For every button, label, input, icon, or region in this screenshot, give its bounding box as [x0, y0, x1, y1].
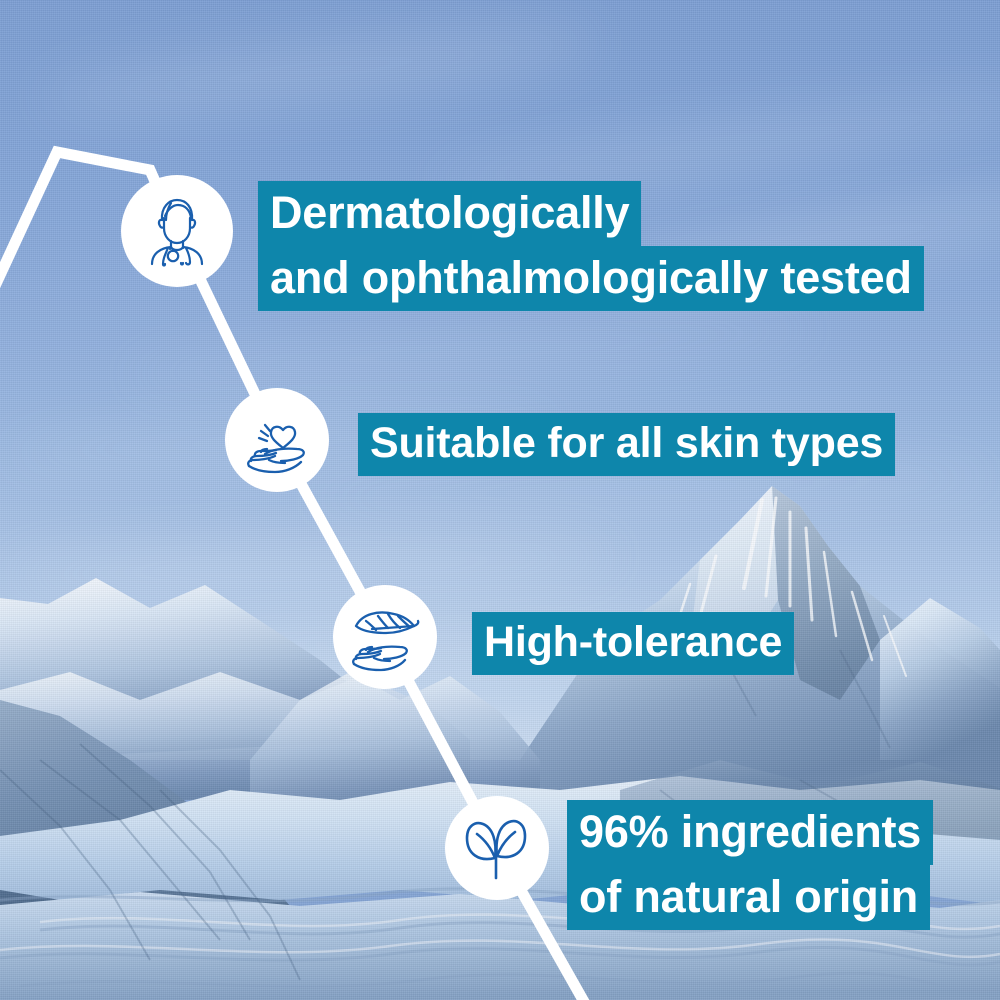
claim-bubble-all-skin-types[interactable] — [225, 388, 329, 492]
claim-text-dermatologically-tested: Dermatologically and ophthalmologically … — [258, 181, 924, 311]
claim-bubble-natural-origin[interactable] — [445, 796, 549, 900]
claim-line: Dermatologically — [258, 181, 641, 246]
claim-line: 96% ingredients — [567, 800, 933, 865]
leaf-plant-icon — [461, 812, 533, 884]
claim-line: and ophthalmologically tested — [258, 246, 924, 311]
claim-line: Suitable for all skin types — [358, 413, 895, 476]
claim-text-natural-origin: 96% ingredients of natural origin — [567, 800, 933, 930]
claim-text-all-skin-types: Suitable for all skin types — [358, 413, 895, 476]
claim-line: High-tolerance — [472, 612, 794, 675]
claim-bubble-high-tolerance[interactable] — [333, 585, 437, 689]
infographic-canvas: Dermatologically and ophthalmologically … — [0, 0, 1000, 1000]
doctor-stethoscope-icon — [140, 194, 214, 268]
hand-heart-icon — [241, 404, 313, 476]
feather-hand-icon — [348, 600, 422, 674]
claim-line: of natural origin — [567, 865, 930, 930]
claim-text-high-tolerance: High-tolerance — [472, 612, 794, 675]
claim-bubble-dermatologically-tested[interactable] — [121, 175, 233, 287]
